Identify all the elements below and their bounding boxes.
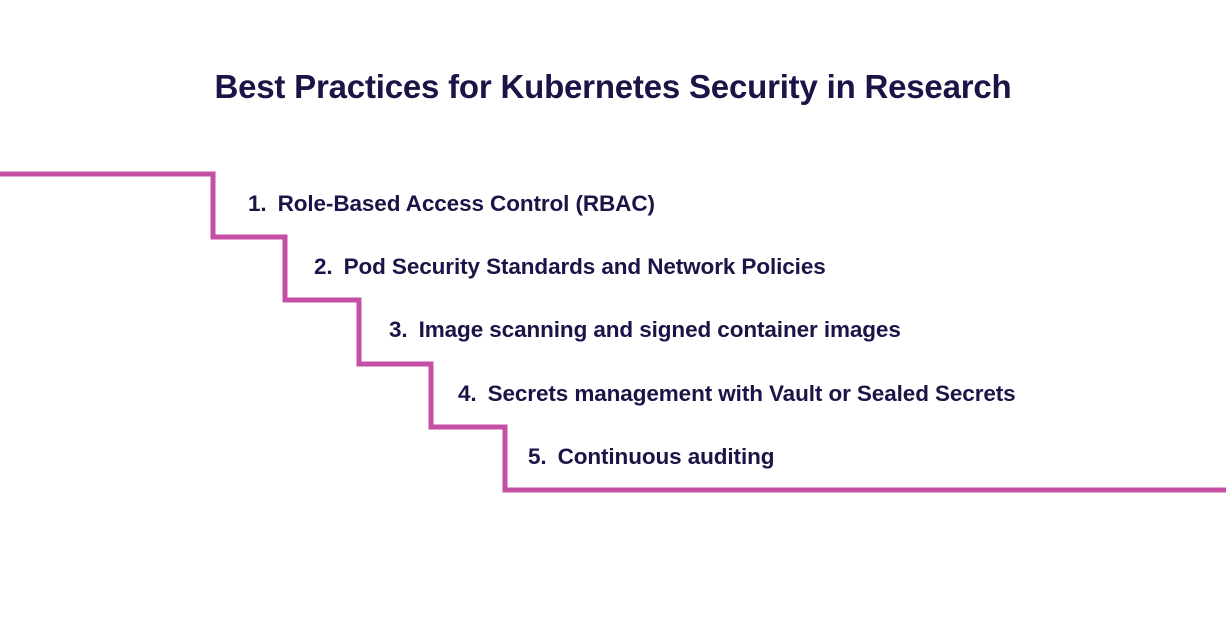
list-item: 1. Role-Based Access Control (RBAC): [248, 191, 655, 217]
list-item-label: Role-Based Access Control (RBAC): [278, 191, 655, 217]
page-title: Best Practices for Kubernetes Security i…: [0, 68, 1226, 106]
list-item: 3. Image scanning and signed container i…: [389, 317, 901, 343]
list-item: 4. Secrets management with Vault or Seal…: [458, 381, 1016, 407]
list-item-label: Pod Security Standards and Network Polic…: [344, 254, 826, 280]
list-item-number: 1.: [248, 191, 267, 217]
list-item: 5. Continuous auditing: [528, 444, 774, 470]
list-item-label: Secrets management with Vault or Sealed …: [488, 381, 1016, 407]
list-item-number: 5.: [528, 444, 547, 470]
list-item-label: Continuous auditing: [558, 444, 775, 470]
list-item-number: 3.: [389, 317, 408, 343]
list-item-label: Image scanning and signed container imag…: [419, 317, 901, 343]
list-item-number: 2.: [314, 254, 333, 280]
list-item: 2. Pod Security Standards and Network Po…: [314, 254, 826, 280]
slide-canvas: Best Practices for Kubernetes Security i…: [0, 0, 1226, 640]
list-item-number: 4.: [458, 381, 477, 407]
